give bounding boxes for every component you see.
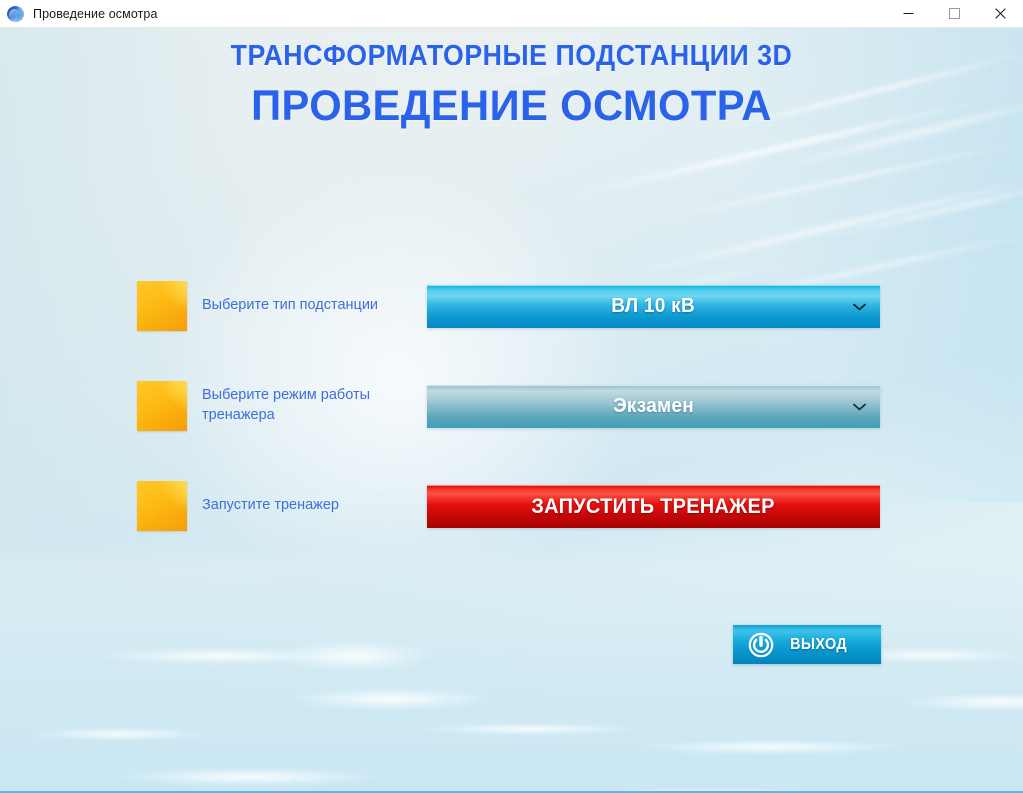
chevron-down-icon <box>853 303 866 311</box>
start-trainer-button[interactable]: ЗАПУСТИТЬ ТРЕНАЖЕР <box>427 485 880 528</box>
page-title: ПРОВЕДЕНИЕ ОСМОТРА <box>15 85 1007 128</box>
control-wrapper: ВЛ 10 кВ <box>427 285 880 328</box>
power-icon <box>747 631 775 659</box>
maximize-button[interactable] <box>931 0 977 28</box>
page-title-block: ТРАНСФОРМАТОРНЫЕ ПОДСТАНЦИИ 3D ПРОВЕДЕНИ… <box>0 42 1023 128</box>
label-trainer-mode: Выберите режим работы тренажера <box>202 386 427 425</box>
maximize-icon <box>949 8 960 19</box>
window-titlebar: Проведение осмотра <box>0 0 1023 28</box>
close-button[interactable] <box>977 0 1023 28</box>
page-subtitle: ТРАНСФОРМАТОРНЫЕ ПОДСТАНЦИИ 3D <box>41 42 982 71</box>
control-wrapper: Экзамен <box>427 385 880 428</box>
app-swirl-logo-icon <box>6 4 26 24</box>
dropdown-substation-type[interactable]: ВЛ 10 кВ <box>427 285 880 328</box>
orange-square-bullet-icon <box>137 281 187 331</box>
dropdown-trainer-mode-value: Экзамен <box>613 395 694 418</box>
form-row-start-trainer: Запустите тренажер ЗАПУСТИТЬ ТРЕНАЖЕР <box>137 481 885 531</box>
close-icon <box>995 8 1006 19</box>
minimize-button[interactable] <box>885 0 931 28</box>
dropdown-substation-type-value: ВЛ 10 кВ <box>612 295 696 318</box>
form-row-substation-type: Выберите тип подстанции ВЛ 10 кВ <box>137 281 885 331</box>
exit-button[interactable]: ВЫХОД <box>733 625 881 664</box>
control-wrapper: ЗАПУСТИТЬ ТРЕНАЖЕР <box>427 485 880 528</box>
minimize-icon <box>903 8 914 19</box>
app-window-body: ТРАНСФОРМАТОРНЫЕ ПОДСТАНЦИИ 3D ПРОВЕДЕНИ… <box>0 28 1023 793</box>
orange-square-bullet-icon <box>137 381 187 431</box>
label-start-trainer: Запустите тренажер <box>202 496 427 516</box>
label-substation-type: Выберите тип подстанции <box>202 296 427 316</box>
window-title: Проведение осмотра <box>33 7 158 21</box>
start-trainer-button-label: ЗАПУСТИТЬ ТРЕНАЖЕР <box>532 495 775 519</box>
exit-button-label: ВЫХОД <box>790 636 847 654</box>
dropdown-trainer-mode[interactable]: Экзамен <box>427 385 880 428</box>
chevron-down-icon <box>853 403 866 411</box>
form-row-trainer-mode: Выберите режим работы тренажера Экзамен <box>137 381 885 431</box>
orange-square-bullet-icon <box>137 481 187 531</box>
